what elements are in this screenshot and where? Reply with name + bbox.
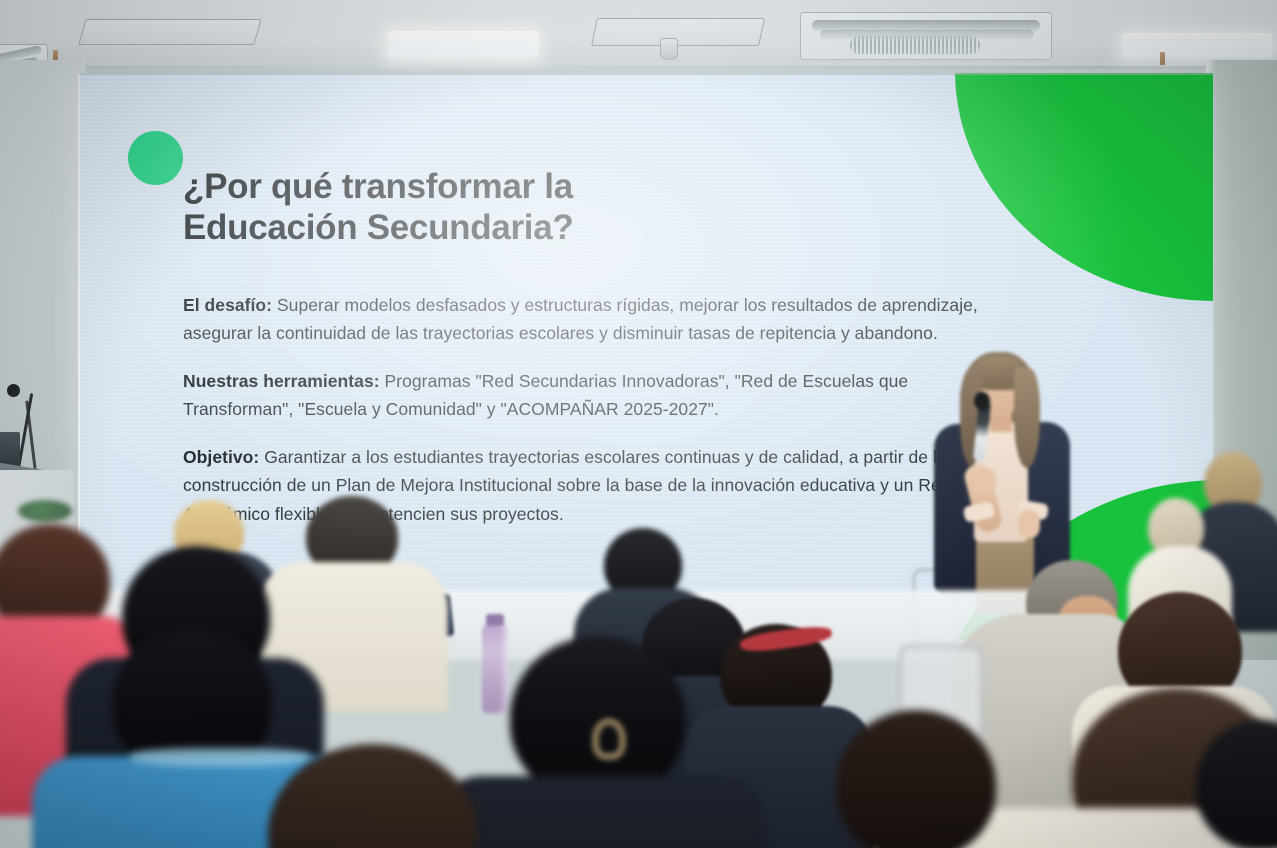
paragraph-text: Garantizar a los estudiantes trayectoria… — [183, 447, 989, 524]
green-circle-decoration — [128, 131, 183, 185]
torso — [436, 776, 766, 848]
hair-clip-icon — [592, 718, 626, 760]
paragraph-text: Superar modelos desfasados y estructuras… — [183, 295, 978, 344]
green-blob-decoration — [955, 73, 1213, 301]
water-bottle-cap — [486, 614, 504, 626]
slide-title-line-1: ¿Por qué transformar la — [183, 166, 823, 207]
ceiling-seam — [0, 66, 1277, 69]
ceiling-sensor-icon — [660, 38, 678, 60]
paragraph-lead: El desafío: — [183, 295, 272, 315]
slide-paragraph-objetivo: Objetivo: Garantizar a los estudiantes t… — [183, 443, 1008, 529]
slide-body: El desafío: Superar modelos desfasados y… — [183, 273, 1008, 528]
water-bottle-icon — [482, 622, 508, 714]
ceiling-light — [1122, 33, 1272, 57]
microphone-head-icon — [974, 392, 990, 410]
presenter-hair-right — [1014, 368, 1040, 468]
microphone-head-icon — [7, 384, 20, 397]
sprinkler-icon — [1160, 52, 1165, 65]
ceiling-vent — [78, 19, 261, 45]
slide-paragraph-herramientas: Nuestras herramientas: Programas "Red Se… — [183, 367, 1008, 424]
presentation-photo: ¿Por qué transformar la Educación Secund… — [0, 0, 1277, 848]
ac-vent-slot — [820, 30, 1034, 39]
polo-collar — [130, 748, 310, 766]
paragraph-lead: Nuestras herramientas: — [183, 371, 380, 391]
ceiling-vent — [591, 18, 765, 46]
slide-title: ¿Por qué transformar la Educación Secund… — [183, 166, 823, 249]
ceiling-light — [388, 31, 538, 58]
head — [836, 710, 996, 848]
slide-title-line-2: Educación Secundaria? — [183, 207, 823, 248]
slide-paragraph-desafio: El desafío: Superar modelos desfasados y… — [183, 291, 1008, 348]
presenter-hand — [1018, 510, 1040, 538]
plant-decoration — [18, 500, 72, 522]
presenter-hand — [974, 468, 996, 494]
paragraph-lead: Objetivo: — [183, 447, 259, 467]
